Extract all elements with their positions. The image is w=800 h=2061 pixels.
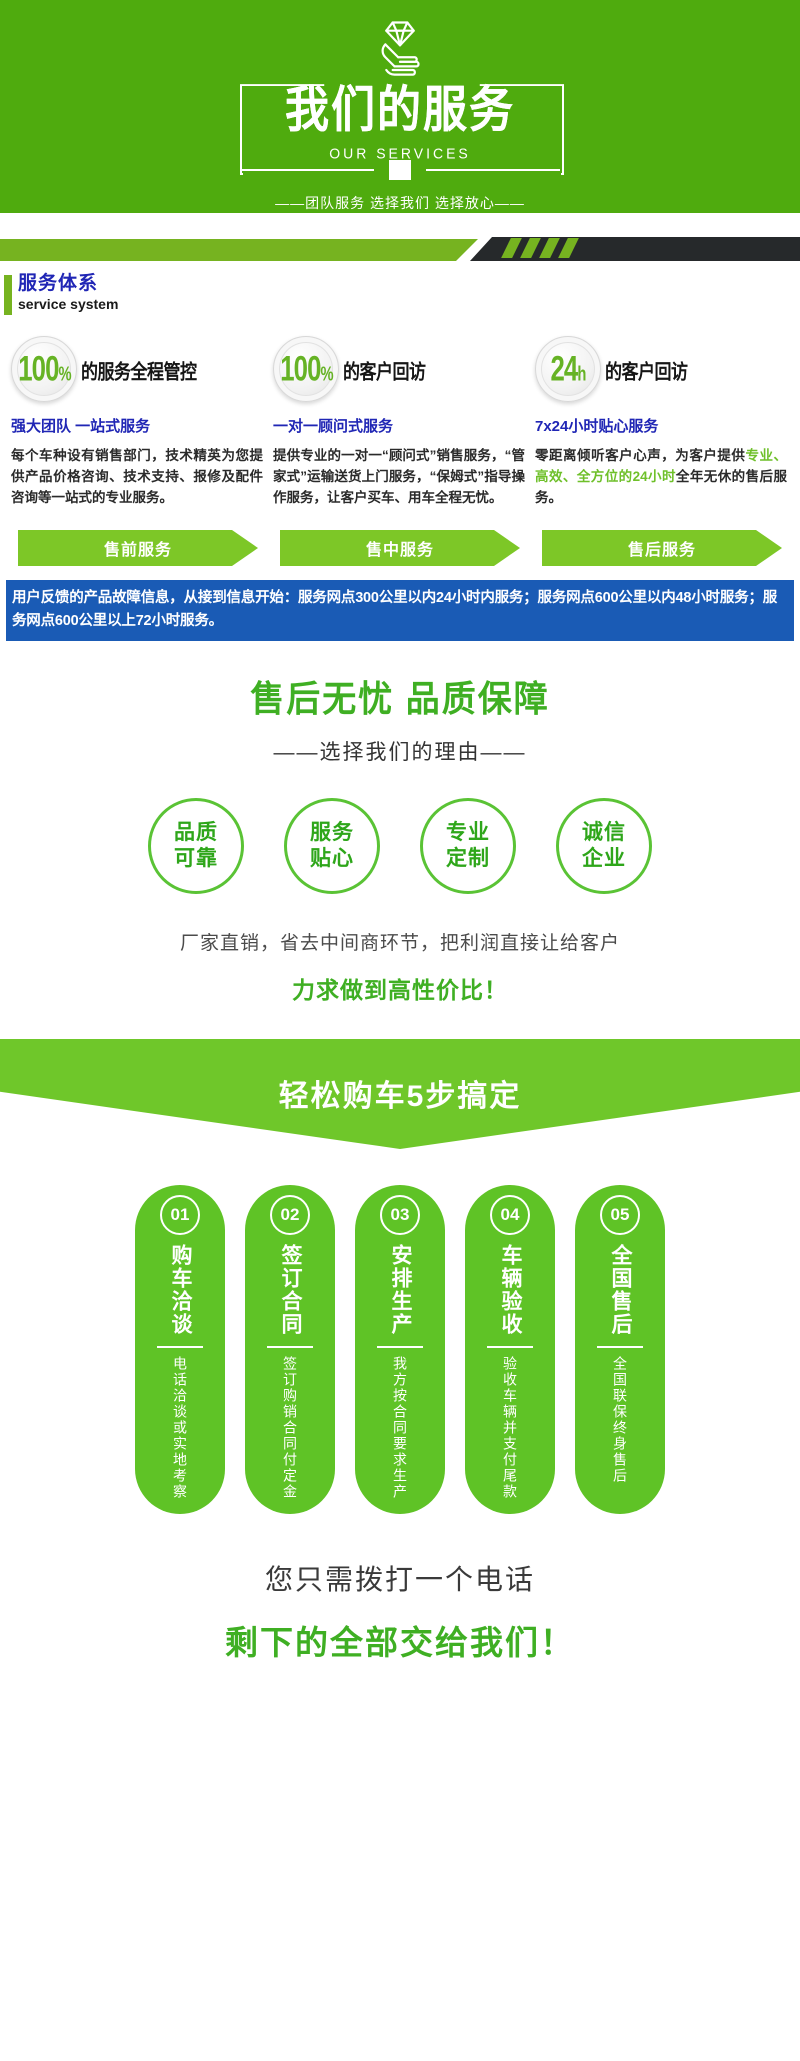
buy-step-1-title: 购车洽谈 bbox=[167, 1244, 193, 1336]
stat-badge-3: 24h bbox=[535, 336, 601, 402]
buy-step-1-divider bbox=[157, 1346, 203, 1348]
hero-title-frame: 我们的服务 OUR SERVICES bbox=[240, 84, 560, 171]
stat-head-2: 100% 的客户回访 bbox=[273, 333, 525, 405]
buy-step-3-title: 安排生产 bbox=[387, 1244, 413, 1336]
frame-line-right bbox=[426, 169, 560, 171]
service-system-heading-cn: 服务体系 bbox=[18, 273, 800, 295]
buy-steps-banner: 轻松购车5步搞定 bbox=[0, 1039, 800, 1157]
frame-bottom-tab bbox=[389, 160, 411, 180]
reason-circle-1: 品质 可靠 bbox=[148, 798, 244, 894]
buy-step-2-title: 签订合同 bbox=[277, 1244, 303, 1336]
stat-badge-unit-2: % bbox=[320, 364, 332, 385]
diamond-hand-icon bbox=[370, 17, 430, 90]
reasons-circle-row: 品质 可靠 服务 贴心 专业 定制 诚信 企业 bbox=[0, 798, 800, 894]
phase-arrow-presale[interactable]: 售前服务 bbox=[18, 530, 258, 566]
stat-column-1: 100% 的服务全程管控 强大团队 一站式服务 每个车种设有销售部门，技术精英为… bbox=[6, 333, 268, 508]
buy-step-4-desc: 验收车辆并支付尾款 bbox=[500, 1356, 520, 1500]
stat-body-3-pre: 零距离倾听客户心声，为客户提供 bbox=[535, 448, 745, 463]
buy-step-3[interactable]: 03 安排生产 我方按合同要求生产 bbox=[355, 1185, 445, 1514]
service-system-heading: 服务体系 service system bbox=[0, 273, 800, 313]
page-title: 我们的服务 bbox=[285, 86, 515, 135]
buy-step-4-title: 车辆验收 bbox=[497, 1244, 523, 1336]
stat-head-1: 100% 的服务全程管控 bbox=[11, 333, 263, 405]
service-notice-banner: 用户反馈的产品故障信息，从接到信息开始：服务网点300公里以内24小时内服务；服… bbox=[6, 580, 794, 641]
stat-badge-2: 100% bbox=[273, 336, 339, 402]
phase-arrow-aftersale[interactable]: 售后服务 bbox=[542, 530, 782, 566]
buy-step-5-title: 全国售后 bbox=[607, 1244, 633, 1336]
reasons-footnote-2: 力求做到高性价比！ bbox=[0, 971, 800, 1005]
buy-step-2-divider bbox=[267, 1346, 313, 1348]
buy-step-4-divider bbox=[487, 1346, 533, 1348]
buy-step-1-number: 01 bbox=[160, 1195, 200, 1235]
footer-line-1: 您只需拨打一个电话 bbox=[0, 1558, 800, 1598]
stat-badge-1: 100% bbox=[11, 336, 77, 402]
reason-4-line2: 企业 bbox=[582, 846, 626, 872]
stat-body-3: 零距离倾听客户心声，为客户提供专业、高效、全方位的24小时全年无休的售后服务。 bbox=[535, 445, 787, 508]
stat-title-1: 强大团队 一站式服务 bbox=[11, 415, 263, 436]
reasons-title: 售后无忧 品质保障 bbox=[0, 670, 800, 722]
service-system-decor-bar bbox=[0, 227, 800, 267]
buy-step-1-desc: 电话洽谈或实地考察 bbox=[170, 1356, 190, 1500]
footer-line-2: 剩下的全部交给我们！ bbox=[0, 1616, 800, 1664]
reason-3-line1: 专业 bbox=[446, 820, 490, 846]
reason-1-line1: 品质 bbox=[174, 820, 218, 846]
service-system-heading-en: service system bbox=[18, 295, 800, 313]
buy-step-5-desc: 全国联保终身售后 bbox=[610, 1356, 630, 1484]
phase-arrow-insale[interactable]: 售中服务 bbox=[280, 530, 520, 566]
stat-badge-label-2: 的客户回访 bbox=[343, 354, 426, 384]
reason-3-line2: 定制 bbox=[446, 846, 490, 872]
reason-2-line2: 贴心 bbox=[310, 846, 354, 872]
stat-column-3: 24h 的客户回访 7x24小时贴心服务 零距离倾听客户心声，为客户提供专业、高… bbox=[530, 333, 792, 508]
decor-green-band bbox=[0, 239, 478, 261]
buy-step-3-desc: 我方按合同要求生产 bbox=[390, 1356, 410, 1500]
reasons-footnote-1: 厂家直销，省去中间商环节，把利润直接让给客户 bbox=[0, 928, 800, 955]
stat-badge-value-2: 100 bbox=[280, 349, 320, 388]
buy-step-2-number: 02 bbox=[270, 1195, 310, 1235]
stat-badge-value-1: 100 bbox=[18, 349, 58, 388]
buy-step-2[interactable]: 02 签订合同 签订购销合同付定金 bbox=[245, 1185, 335, 1514]
buy-step-3-divider bbox=[377, 1346, 423, 1348]
stat-column-2: 100% 的客户回访 一对一顾问式服务 提供专业的一对一“顾问式”销售服务，“管… bbox=[268, 333, 530, 508]
service-phase-arrows: 售前服务 售中服务 售后服务 bbox=[0, 530, 800, 566]
buy-step-1[interactable]: 01 购车洽谈 电话洽谈或实地考察 bbox=[135, 1185, 225, 1514]
buy-steps-row: 01 购车洽谈 电话洽谈或实地考察 02 签订合同 签订购销合同付定金 03 安… bbox=[0, 1185, 800, 1514]
buy-step-5-number: 05 bbox=[600, 1195, 640, 1235]
reason-circle-3: 专业 定制 bbox=[420, 798, 516, 894]
stat-badge-value-3: 24 bbox=[551, 349, 578, 388]
stat-title-2: 一对一顾问式服务 bbox=[273, 415, 525, 436]
buy-step-3-number: 03 bbox=[380, 1195, 420, 1235]
frame-line-left bbox=[240, 169, 374, 171]
stat-title-3: 7x24小时贴心服务 bbox=[535, 415, 787, 436]
stat-badge-unit-1: % bbox=[58, 364, 70, 385]
reason-4-line1: 诚信 bbox=[582, 820, 626, 846]
stat-badge-label-3: 的客户回访 bbox=[605, 354, 688, 384]
reason-1-line2: 可靠 bbox=[174, 846, 218, 872]
buy-step-4-number: 04 bbox=[490, 1195, 530, 1235]
buy-step-2-desc: 签订购销合同付定金 bbox=[280, 1356, 300, 1500]
reason-circle-2: 服务 贴心 bbox=[284, 798, 380, 894]
stat-body-1: 每个车种设有销售部门，技术精英为您提供产品价格咨询、技术支持、报修及配件咨询等一… bbox=[11, 445, 263, 508]
reason-2-line1: 服务 bbox=[310, 820, 354, 846]
stat-badge-unit-3: h bbox=[577, 364, 585, 385]
hero-tagline: ——团队服务 选择我们 选择放心—— bbox=[275, 193, 525, 213]
stats-row: 100% 的服务全程管控 强大团队 一站式服务 每个车种设有销售部门，技术精英为… bbox=[0, 333, 800, 508]
stat-head-3: 24h 的客户回访 bbox=[535, 333, 787, 405]
stat-body-2: 提供专业的一对一“顾问式”销售服务，“管家式”运输送货上门服务，“保姆式”指导操… bbox=[273, 445, 525, 508]
reasons-subtitle: ——选择我们的理由—— bbox=[0, 736, 800, 766]
buy-step-5[interactable]: 05 全国售后 全国联保终身售后 bbox=[575, 1185, 665, 1514]
stat-badge-label-1: 的服务全程管控 bbox=[81, 354, 197, 384]
buy-step-5-divider bbox=[597, 1346, 643, 1348]
buy-steps-banner-text: 轻松购车5步搞定 bbox=[0, 1071, 800, 1115]
hero-banner: 我们的服务 OUR SERVICES ——团队服务 选择我们 选择放心—— bbox=[0, 0, 800, 213]
heading-tick-marker bbox=[4, 275, 12, 315]
reason-circle-4: 诚信 企业 bbox=[556, 798, 652, 894]
stat-body-3-highlight-2: 24小时 bbox=[633, 469, 676, 484]
page-subtitle: OUR SERVICES bbox=[329, 144, 471, 161]
buy-step-4[interactable]: 04 车辆验收 验收车辆并支付尾款 bbox=[465, 1185, 555, 1514]
